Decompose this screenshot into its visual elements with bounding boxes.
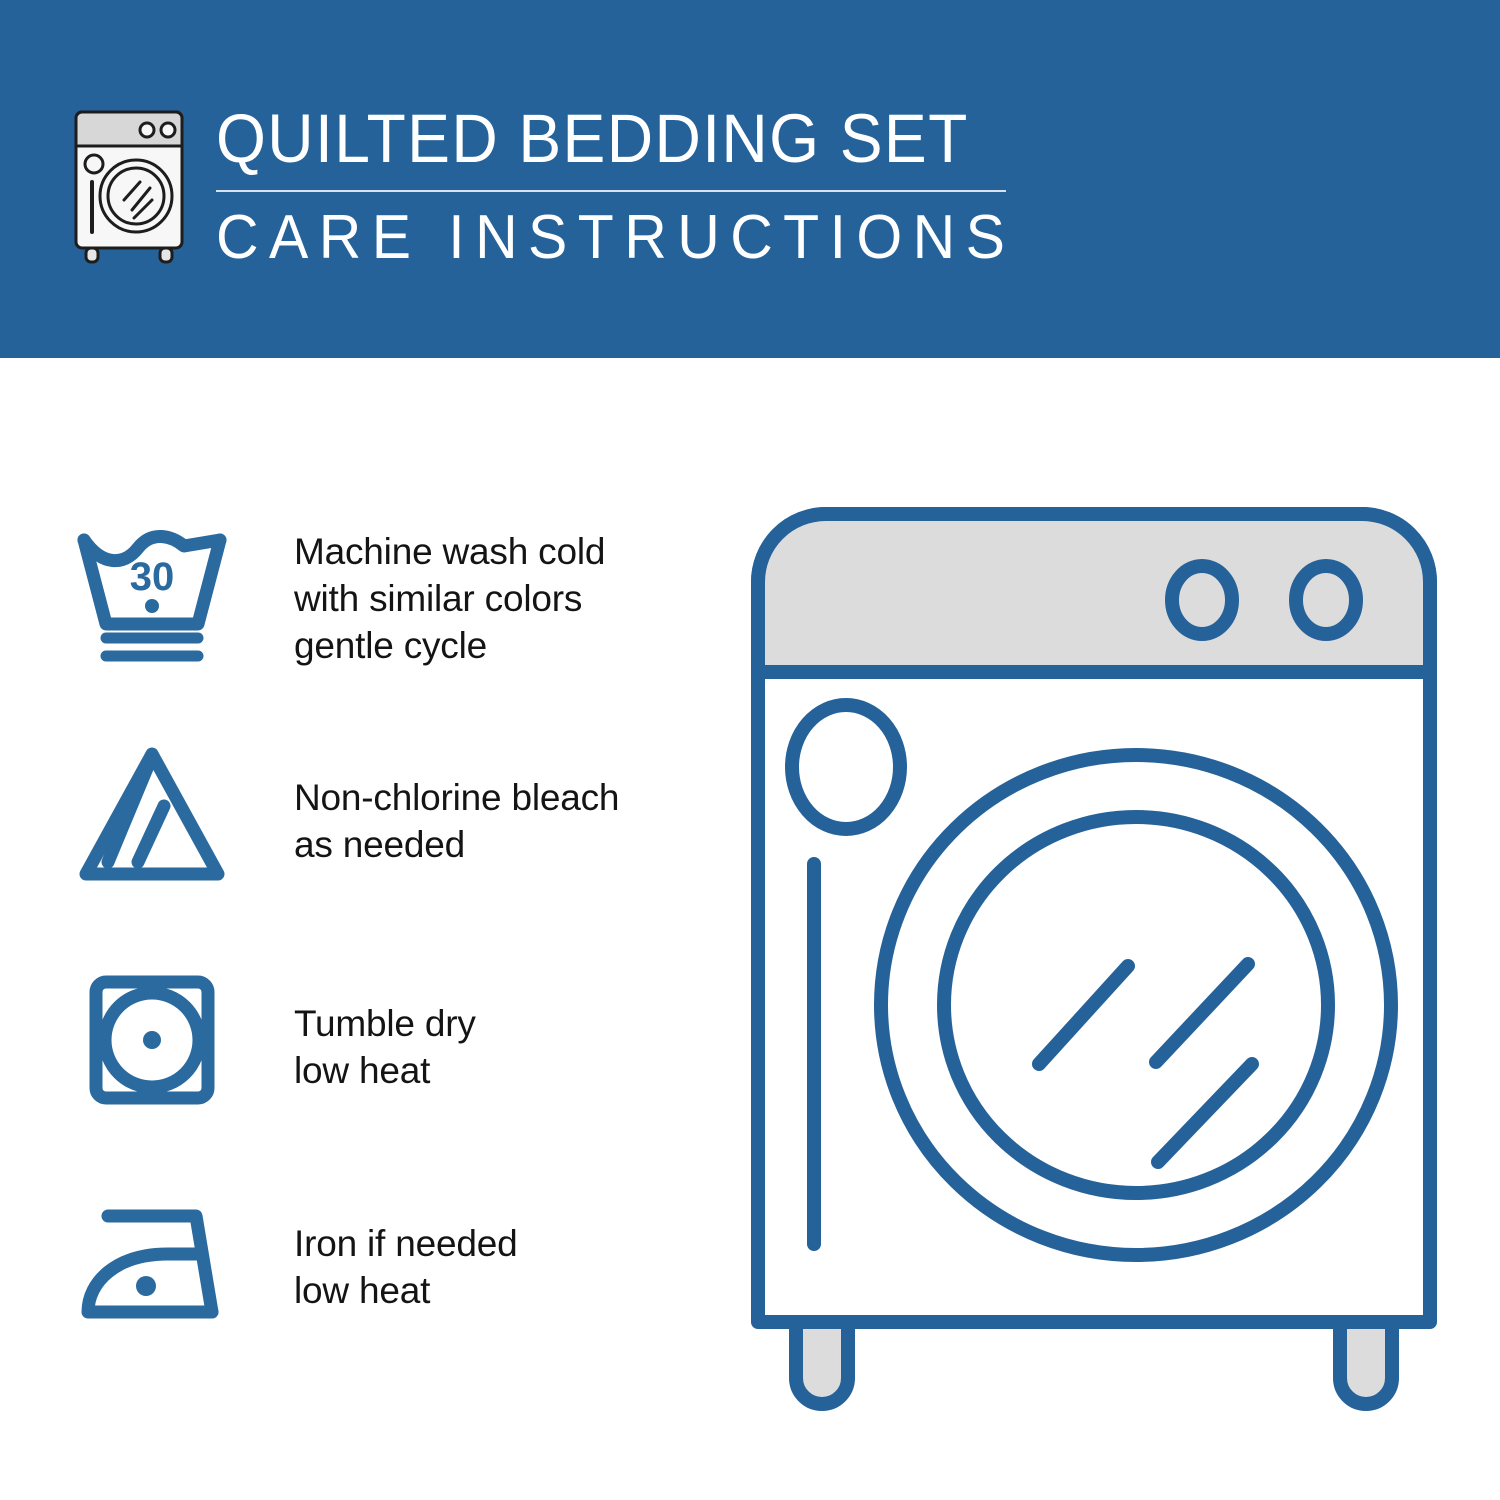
iron-icon: [72, 1196, 232, 1336]
list-item: Tumble dry low heat: [72, 970, 712, 1110]
list-item-label: Non-chlorine bleach as needed: [294, 740, 619, 868]
care-instructions-page: QUILTED BEDDING SET CARE INSTRUCTIONS 30: [0, 0, 1500, 1500]
list-item: Iron if needed low heat: [72, 1196, 712, 1336]
tumble-dry-square-icon: [72, 970, 232, 1110]
list-item: 30 Machine wash cold with similar colors…: [72, 518, 712, 669]
washing-machine-icon: [66, 104, 192, 264]
machine-wash-tub-icon: 30: [72, 518, 232, 668]
list-item-label: Tumble dry low heat: [294, 970, 476, 1094]
header-banner: QUILTED BEDDING SET CARE INSTRUCTIONS: [0, 0, 1500, 358]
non-chlorine-bleach-triangle-icon: [72, 740, 232, 890]
svg-text:30: 30: [130, 555, 175, 599]
page-title: QUILTED BEDDING SET: [216, 98, 969, 180]
page-subtitle: CARE INSTRUCTIONS: [216, 200, 986, 276]
list-item-label: Iron if needed low heat: [294, 1196, 517, 1314]
list-item: Non-chlorine bleach as needed: [72, 740, 712, 890]
header-divider: [216, 190, 1006, 192]
header-text-block: QUILTED BEDDING SET CARE INSTRUCTIONS: [216, 98, 1026, 276]
washing-machine-illustration: [736, 492, 1452, 1422]
list-item-label: Machine wash cold with similar colors ge…: [294, 518, 605, 669]
instruction-list: 30 Machine wash cold with similar colors…: [0, 358, 740, 1500]
